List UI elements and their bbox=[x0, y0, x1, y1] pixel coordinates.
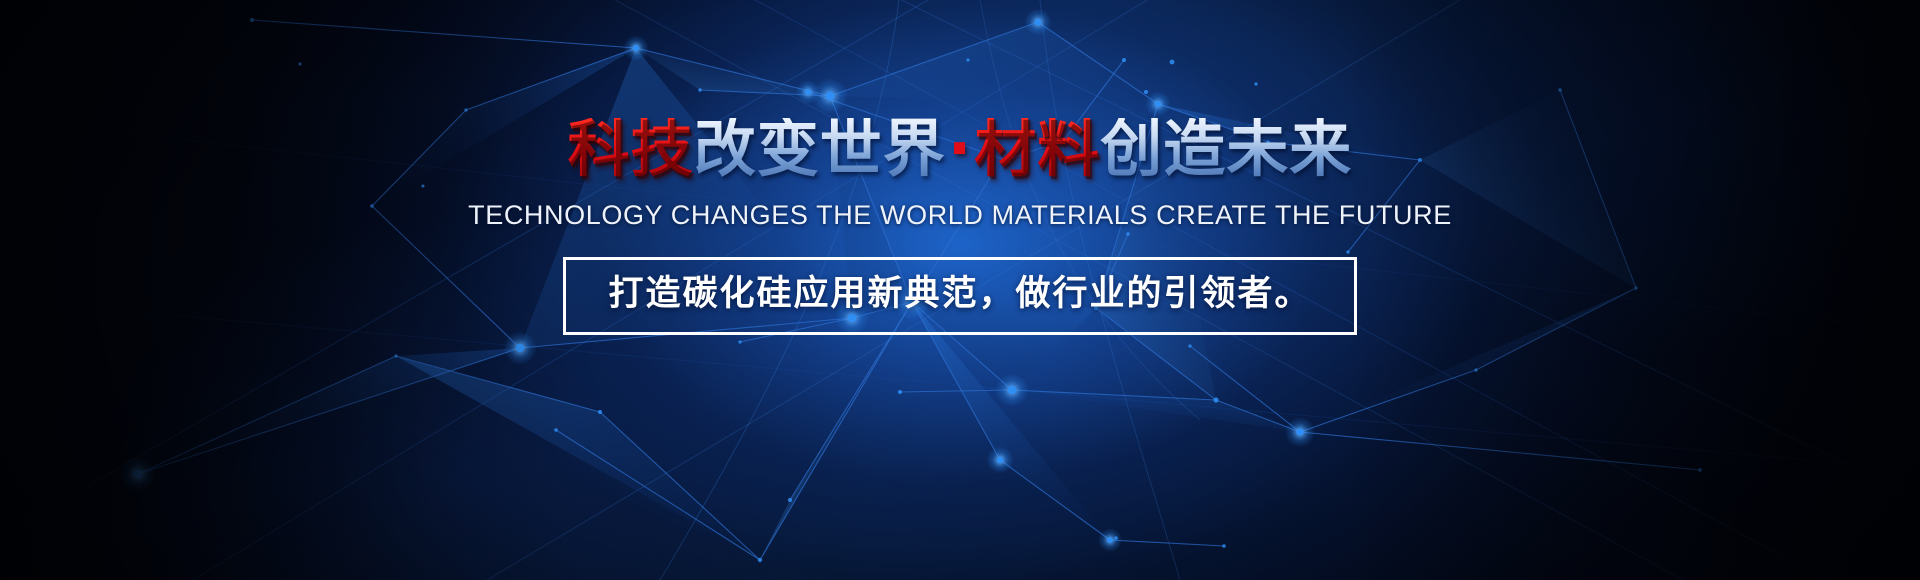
page-title: 科技改变世界·材料创造未来 bbox=[568, 118, 1353, 180]
headline-segment-dot-2: · bbox=[946, 118, 975, 180]
headline-segment-red-0: 科技 bbox=[568, 118, 694, 180]
slogan-text: 打造碳化硅应用新典范，做行业的引领者。 bbox=[608, 277, 1311, 312]
slogan-box: 打造碳化硅应用新典范，做行业的引领者。 bbox=[563, 257, 1356, 335]
headline-segment-silver-4: 创造未来 bbox=[1100, 118, 1352, 180]
hero-banner: 科技改变世界·材料创造未来 TECHNOLOGY CHANGES THE WOR… bbox=[0, 0, 1920, 580]
headline-segment-silver-1: 改变世界 bbox=[694, 118, 946, 180]
headline-segment-red-3: 材料 bbox=[974, 118, 1100, 180]
subtitle-english: TECHNOLOGY CHANGES THE WORLD MATERIALS C… bbox=[468, 200, 1452, 231]
banner-content: 科技改变世界·材料创造未来 TECHNOLOGY CHANGES THE WOR… bbox=[0, 0, 1920, 580]
